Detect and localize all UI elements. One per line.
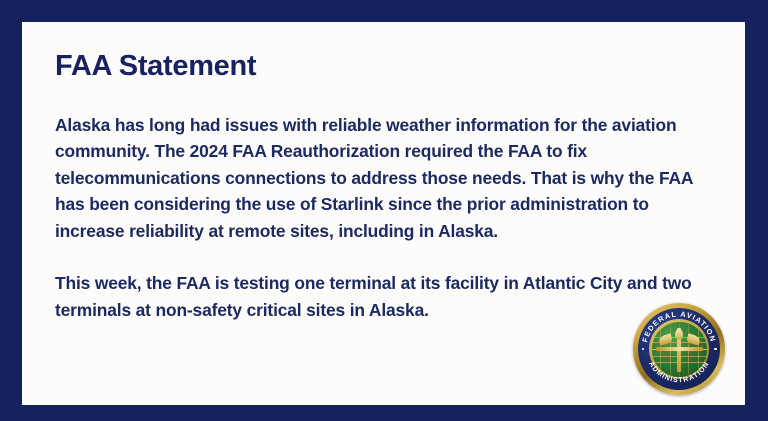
statement-panel: FAA Statement Alaska has long had issues…	[22, 22, 745, 405]
statement-body: Alaska has long had issues with reliable…	[55, 112, 710, 323]
statement-paragraph-1: Alaska has long had issues with reliable…	[55, 112, 710, 244]
faa-seal-globe-icon	[652, 322, 707, 377]
faa-statement-card: FAA Statement Alaska has long had issues…	[0, 0, 768, 421]
faa-seal-outer-ring: FEDERAL AVIATION ADMINISTRATION	[633, 303, 725, 395]
faa-seal-logo: FEDERAL AVIATION ADMINISTRATION	[633, 303, 725, 395]
faa-seal-dot-right	[714, 348, 717, 351]
statement-paragraph-2: This week, the FAA is testing one termin…	[55, 270, 710, 323]
page-title: FAA Statement	[55, 52, 735, 81]
statement-panel-content: FAA Statement Alaska has long had issues…	[33, 32, 735, 399]
